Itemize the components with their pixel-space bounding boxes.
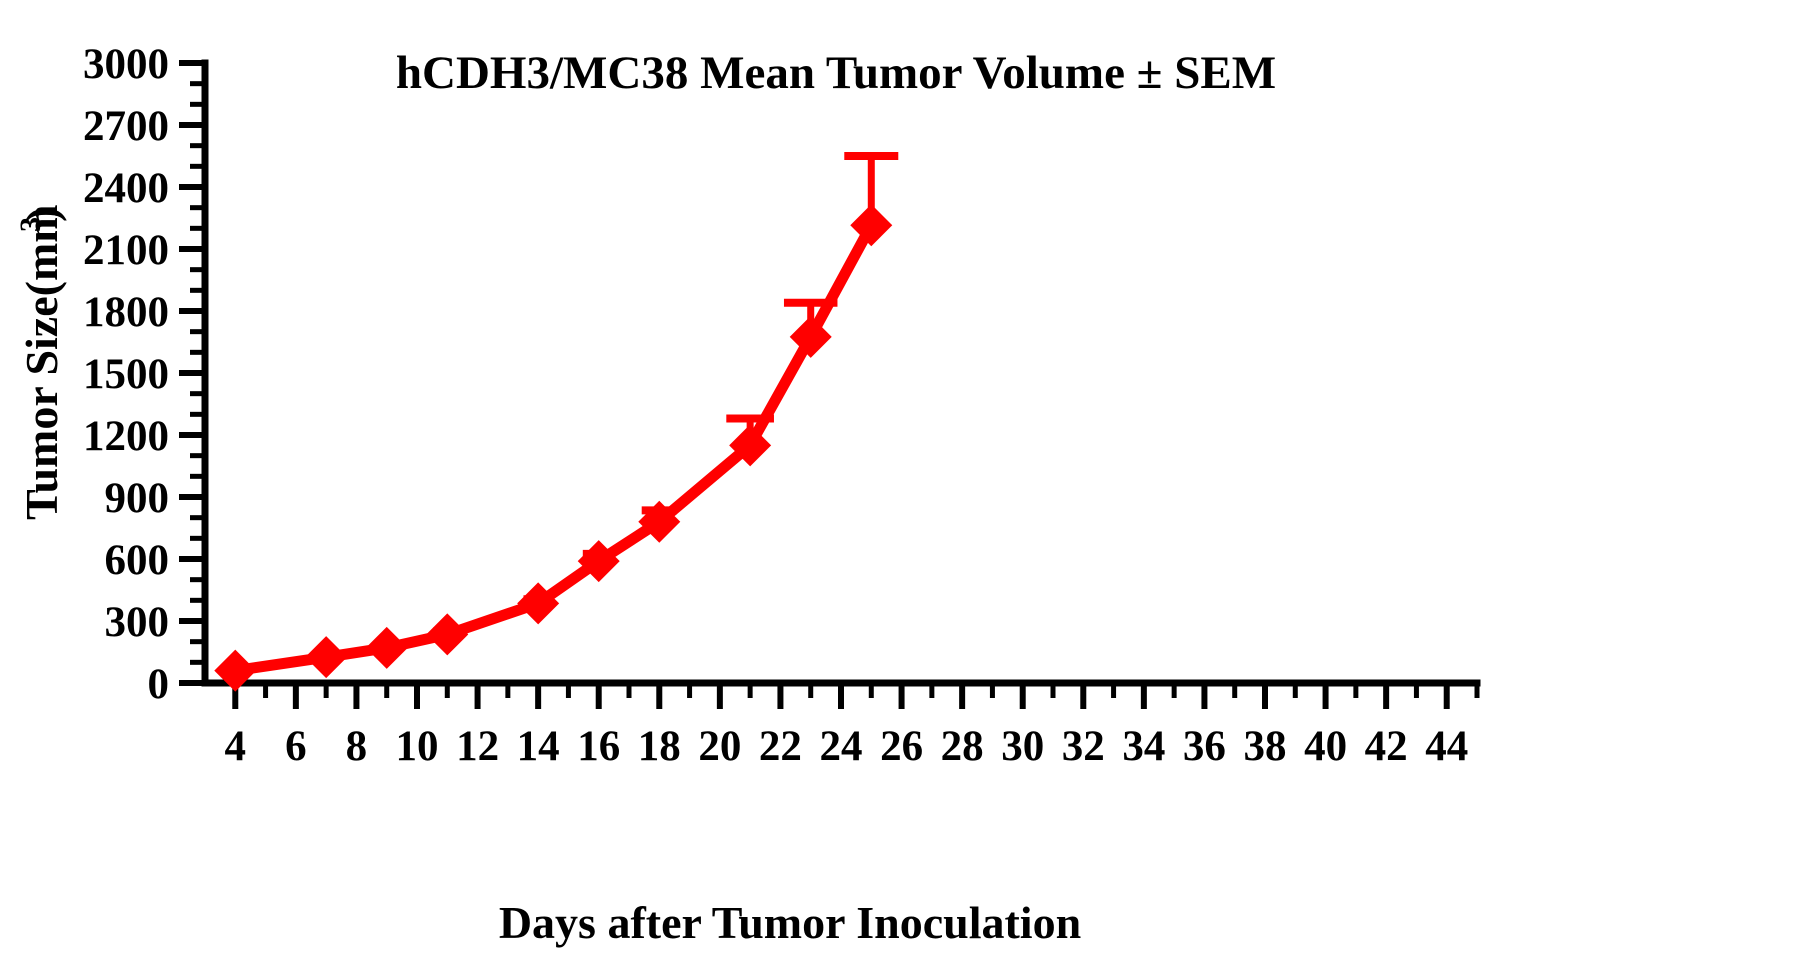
x-tick-label: 38 <box>1244 723 1287 770</box>
x-axis-ticks: 468101214161820222426283032343638404244 <box>225 683 1477 770</box>
y-tick-label: 300 <box>105 599 170 646</box>
x-tick-label: 30 <box>1001 723 1044 770</box>
x-tick-label: 20 <box>698 723 741 770</box>
data-series-hcdh3-mc38 <box>214 156 898 692</box>
x-tick-label: 36 <box>1183 723 1226 770</box>
data-point-marker <box>850 204 892 246</box>
y-tick-label: 1800 <box>83 289 169 336</box>
y-tick-label: 600 <box>105 537 170 584</box>
y-tick-label: 2700 <box>83 103 169 150</box>
y-tick-label: 1500 <box>83 351 169 398</box>
x-tick-label: 24 <box>820 723 863 770</box>
chart-figure: hCDH3/MC38 Mean Tumor Volume ± SEM Tumor… <box>0 0 1802 978</box>
error-bars <box>312 156 898 657</box>
x-tick-label: 4 <box>225 723 247 770</box>
x-tick-label: 42 <box>1365 723 1408 770</box>
data-point-marker <box>790 316 832 358</box>
y-axis-title-main: Tumor Size(mm <box>16 204 67 520</box>
y-axis-ticks: 03006009001200150018002100240027003000 <box>83 41 205 708</box>
x-axis-title: Days after Tumor Inoculation <box>499 897 1081 948</box>
x-tick-label: 26 <box>880 723 923 770</box>
data-point-marker <box>366 627 408 669</box>
y-axis-title: Tumor Size(mm 3 ) <box>14 204 67 520</box>
x-tick-label: 28 <box>941 723 984 770</box>
x-tick-label: 44 <box>1425 723 1468 770</box>
x-tick-label: 18 <box>638 723 681 770</box>
chart-canvas: hCDH3/MC38 Mean Tumor Volume ± SEM Tumor… <box>0 0 1802 978</box>
data-point-markers <box>214 204 892 691</box>
x-tick-label: 40 <box>1304 723 1347 770</box>
data-point-marker <box>426 613 468 655</box>
x-tick-label: 22 <box>759 723 802 770</box>
x-tick-label: 34 <box>1122 723 1165 770</box>
y-tick-label: 900 <box>105 475 170 522</box>
y-tick-label: 0 <box>148 661 170 708</box>
y-tick-label: 2100 <box>83 227 169 274</box>
y-tick-label: 2400 <box>83 165 169 212</box>
data-point-marker <box>305 636 347 678</box>
x-tick-label: 8 <box>346 723 368 770</box>
x-tick-label: 16 <box>577 723 620 770</box>
x-tick-label: 32 <box>1062 723 1105 770</box>
y-axis-title-suffix: ) <box>16 207 67 222</box>
x-tick-label: 12 <box>456 723 499 770</box>
y-tick-label: 1200 <box>83 413 169 460</box>
x-tick-label: 10 <box>396 723 439 770</box>
x-tick-label: 6 <box>285 723 307 770</box>
x-tick-label: 14 <box>517 723 560 770</box>
y-tick-label: 3000 <box>83 41 169 88</box>
chart-title: hCDH3/MC38 Mean Tumor Volume ± SEM <box>396 47 1276 99</box>
